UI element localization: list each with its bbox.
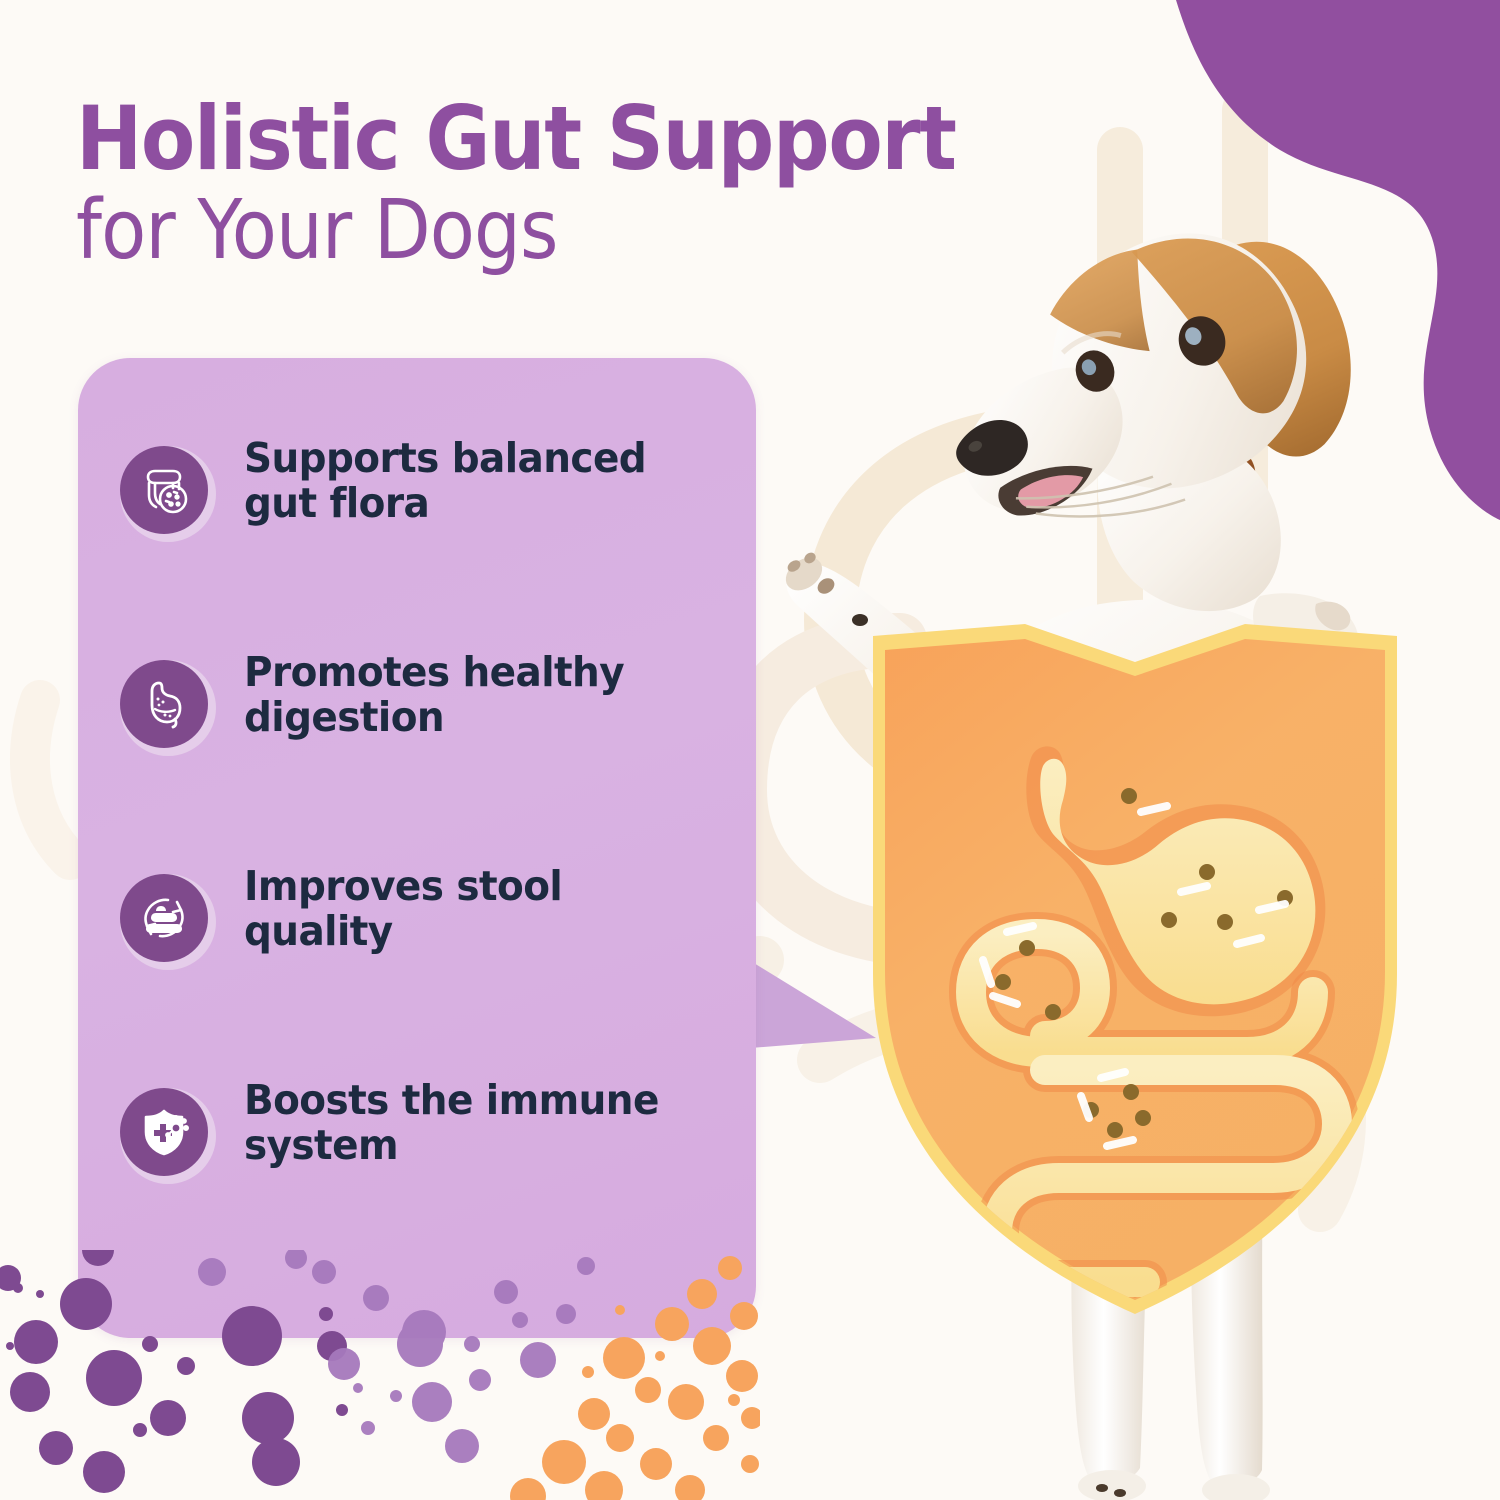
benefit-text-line-2: quality <box>244 909 562 954</box>
benefit-item-digestion: Promotes healthy digestion <box>120 636 716 850</box>
stomach-icon <box>135 675 193 733</box>
confetti-dots-decoration <box>0 1250 760 1500</box>
benefit-text: Supports balanced gut flora <box>244 436 646 526</box>
benefit-text-line-1: Promotes healthy <box>244 650 624 695</box>
benefits-list: Supports balanced gut flora <box>78 358 756 1338</box>
benefit-text-line-2: system <box>244 1123 659 1168</box>
benefit-text: Improves stool quality <box>244 864 562 954</box>
benefit-text: Boosts the immune system <box>244 1078 659 1168</box>
benefit-text-line-2: digestion <box>244 695 624 740</box>
shield-immune-icon <box>134 1102 194 1162</box>
benefit-item-stool-quality: Improves stool quality <box>120 850 716 1064</box>
benefit-item-immune-system: Boosts the immune system <box>120 1064 716 1278</box>
benefit-text: Promotes healthy digestion <box>244 650 624 740</box>
icon-circle <box>120 1088 208 1176</box>
headline-line-1: Holistic Gut Support <box>76 96 1138 182</box>
stool-quality-icon <box>134 888 194 948</box>
benefit-text-line-1: Boosts the immune <box>244 1078 659 1123</box>
icon-circle <box>120 660 208 748</box>
benefit-item-gut-flora: Supports balanced gut flora <box>120 422 716 636</box>
infographic-canvas: Holistic Gut Support for Your Dogs <box>0 0 1500 1500</box>
page-headline: Holistic Gut Support for Your Dogs <box>76 96 1256 274</box>
benefits-card: Supports balanced gut flora <box>78 358 756 1338</box>
benefit-text-line-1: Supports balanced <box>244 436 646 481</box>
benefit-icon-wrap <box>120 660 216 756</box>
benefit-text-line-2: gut flora <box>244 481 646 526</box>
icon-circle <box>120 874 208 962</box>
intestine-bacteria-icon <box>135 461 193 519</box>
icon-circle <box>120 446 208 534</box>
benefit-text-line-1: Improves stool <box>244 864 562 909</box>
benefit-icon-wrap <box>120 1088 216 1184</box>
benefit-icon-wrap <box>120 874 216 970</box>
headline-line-2: for Your Dogs <box>76 188 1138 273</box>
digestive-system-shield-icon <box>845 600 1425 1320</box>
benefit-icon-wrap <box>120 446 216 542</box>
